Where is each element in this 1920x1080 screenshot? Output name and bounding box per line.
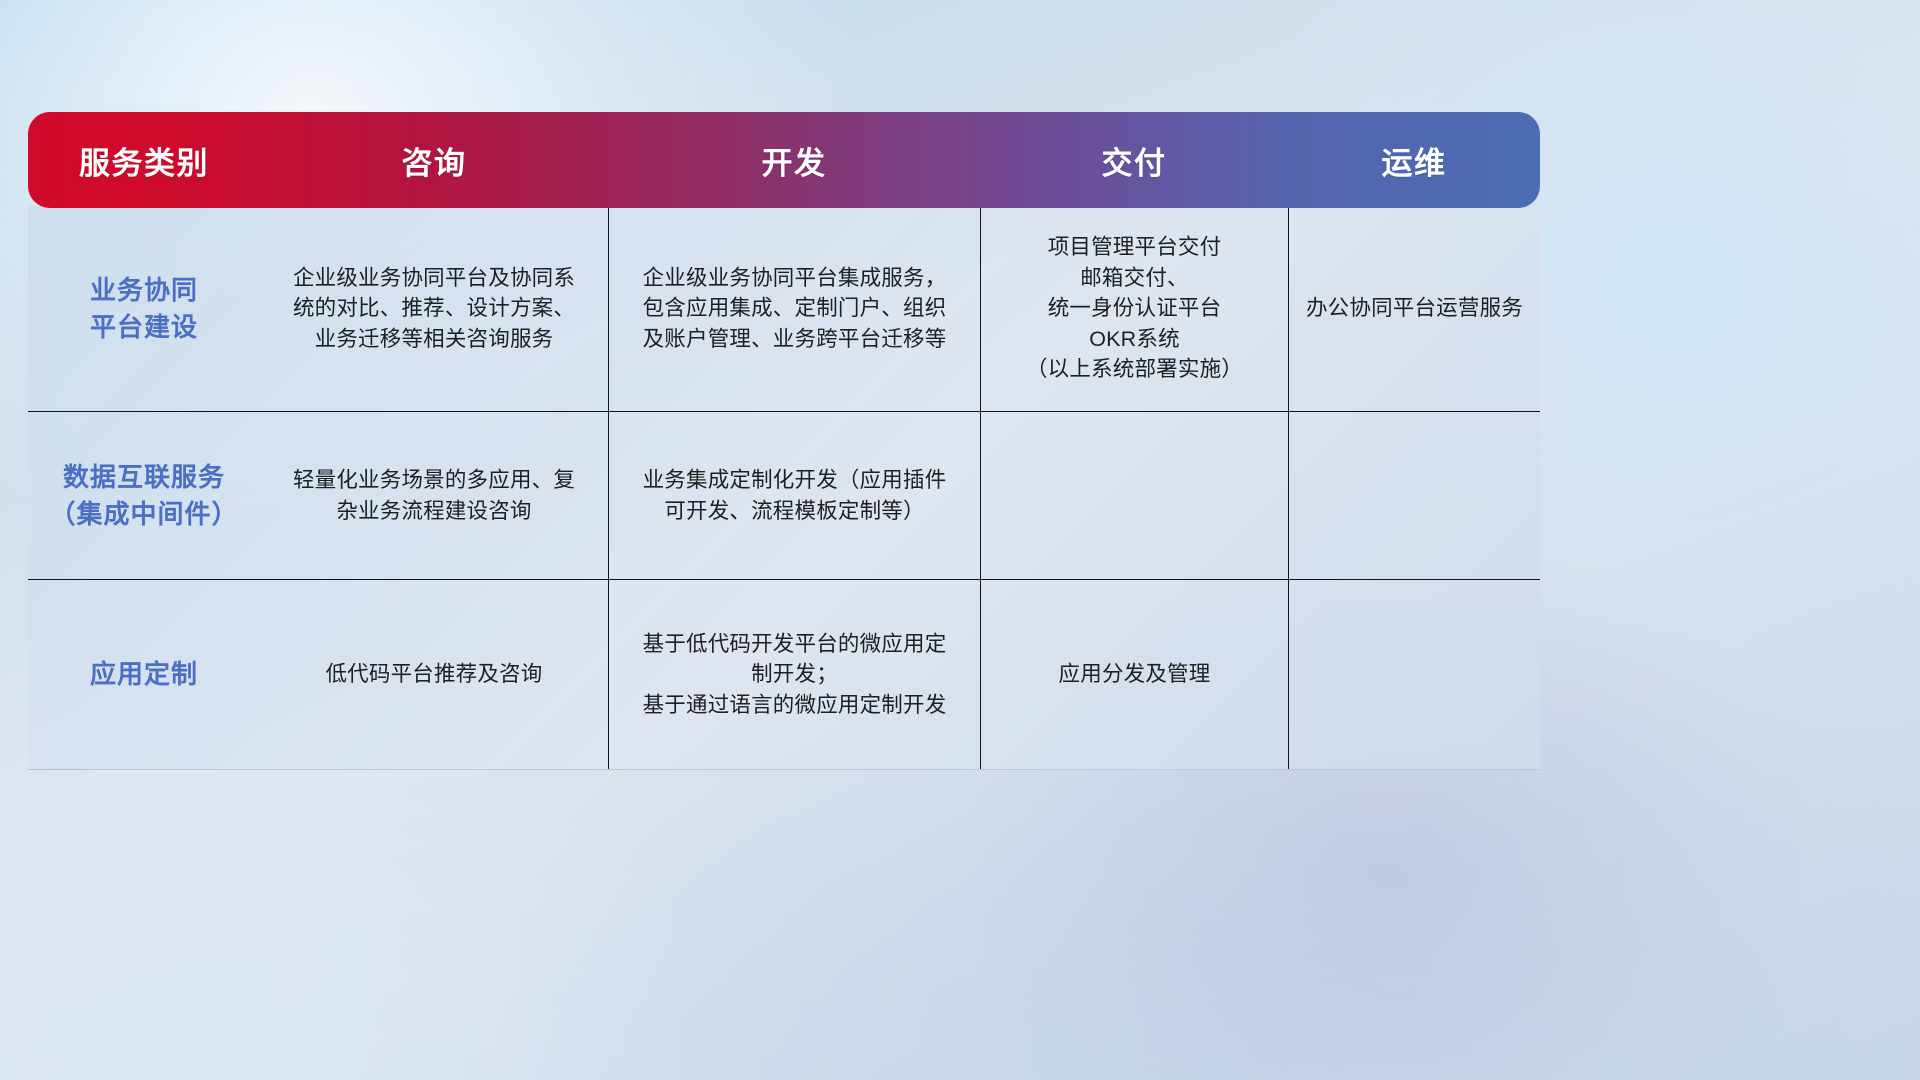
cell-delivery: 项目管理平台交付 邮箱交付、 统一身份认证平台 OKR系统 （以上系统部署实施） bbox=[980, 206, 1288, 411]
cell-delivery bbox=[980, 412, 1288, 579]
cell-text: 基于低代码开发平台的微应用定 制开发； 基于通过语言的微应用定制开发 bbox=[643, 629, 947, 721]
cell-text: 项目管理平台交付 邮箱交付、 统一身份认证平台 OKR系统 （以上系统部署实施） bbox=[1026, 232, 1243, 385]
row-label-text: 业务协同 平台建设 bbox=[90, 272, 198, 346]
cell-text: 应用分发及管理 bbox=[1059, 659, 1211, 690]
cell-operations: 办公协同平台运营服务 bbox=[1288, 206, 1540, 411]
row-label-cell: 业务协同 平台建设 bbox=[28, 206, 260, 411]
column-header-delivery: 交付 bbox=[980, 112, 1288, 208]
column-header-consulting: 咨询 bbox=[260, 112, 608, 208]
cell-text: 办公协同平台运营服务 bbox=[1306, 293, 1523, 324]
table-row: 业务协同 平台建设 企业级业务协同平台及协同系 统的对比、推荐、设计方案、 业务… bbox=[28, 206, 1540, 411]
cell-consulting: 企业级业务协同平台及协同系 统的对比、推荐、设计方案、 业务迁移等相关咨询服务 bbox=[260, 206, 608, 411]
cell-text: 业务集成定制化开发（应用插件 可开发、流程模板定制等） bbox=[643, 465, 947, 526]
row-label-cell: 应用定制 bbox=[28, 580, 260, 769]
cell-development: 企业级业务协同平台集成服务， 包含应用集成、定制门户、组织 及账户管理、业务跨平… bbox=[608, 206, 980, 411]
cell-operations bbox=[1288, 580, 1540, 769]
cell-delivery: 应用分发及管理 bbox=[980, 580, 1288, 769]
table-row: 数据互联服务 （集成中间件） 轻量化业务场景的多应用、复 杂业务流程建设咨询 业… bbox=[28, 411, 1540, 579]
column-header-operations: 运维 bbox=[1288, 112, 1540, 208]
column-header-development: 开发 bbox=[608, 112, 980, 208]
cell-development: 基于低代码开发平台的微应用定 制开发； 基于通过语言的微应用定制开发 bbox=[608, 580, 980, 769]
table-body: 业务协同 平台建设 企业级业务协同平台及协同系 统的对比、推荐、设计方案、 业务… bbox=[28, 206, 1540, 770]
cell-operations bbox=[1288, 412, 1540, 579]
row-label-cell: 数据互联服务 （集成中间件） bbox=[28, 412, 260, 579]
cell-consulting: 轻量化业务场景的多应用、复 杂业务流程建设咨询 bbox=[260, 412, 608, 579]
row-label-text: 数据互联服务 （集成中间件） bbox=[49, 459, 238, 533]
cell-text: 企业级业务协同平台集成服务， 包含应用集成、定制门户、组织 及账户管理、业务跨平… bbox=[643, 263, 947, 355]
cell-text: 低代码平台推荐及咨询 bbox=[325, 659, 542, 690]
cell-consulting: 低代码平台推荐及咨询 bbox=[260, 580, 608, 769]
table-row: 应用定制 低代码平台推荐及咨询 基于低代码开发平台的微应用定 制开发； 基于通过… bbox=[28, 579, 1540, 769]
row-label-text: 应用定制 bbox=[90, 656, 198, 693]
cell-text: 轻量化业务场景的多应用、复 杂业务流程建设咨询 bbox=[293, 465, 575, 526]
table-header-row: 服务类别 咨询 开发 交付 运维 bbox=[28, 112, 1540, 208]
cell-development: 业务集成定制化开发（应用插件 可开发、流程模板定制等） bbox=[608, 412, 980, 579]
cell-text: 企业级业务协同平台及协同系 统的对比、推荐、设计方案、 业务迁移等相关咨询服务 bbox=[293, 263, 575, 355]
service-matrix-table: 服务类别 咨询 开发 交付 运维 业务协同 平台建设 企业级业务协同平台及协同系… bbox=[28, 112, 1540, 770]
column-header-category: 服务类别 bbox=[28, 112, 260, 208]
